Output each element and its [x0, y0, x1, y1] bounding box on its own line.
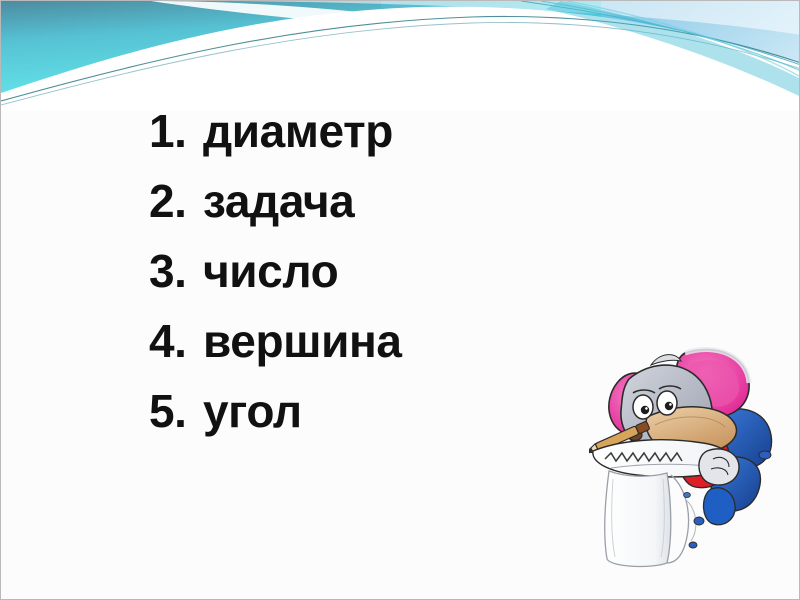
list-item: 2. задача — [149, 174, 579, 244]
list-item-word: диаметр — [203, 104, 393, 158]
slide-canvas: 1. диаметр 2. задача 3. число 4. вершина… — [0, 0, 800, 600]
decorative-wave-banner — [1, 1, 800, 111]
cartoon-mouse-with-pencil-and-scroll-icon — [589, 339, 800, 571]
list-item-word: задача — [203, 174, 354, 228]
list-item: 4. вершина — [149, 314, 579, 384]
list-item-number: 2. — [149, 174, 203, 228]
list-item-number: 1. — [149, 104, 203, 158]
list-item: 5. угол — [149, 384, 579, 454]
list-item-number: 3. — [149, 244, 203, 298]
list-item-word: угол — [203, 384, 302, 438]
list-item: 3. число — [149, 244, 579, 314]
list-item-number: 5. — [149, 384, 203, 438]
list-item-number: 4. — [149, 314, 203, 368]
numbered-word-list: 1. диаметр 2. задача 3. число 4. вершина… — [149, 104, 579, 454]
list-item-word: вершина — [203, 314, 402, 368]
list-item-word: число — [203, 244, 338, 298]
list-item: 1. диаметр — [149, 104, 579, 174]
